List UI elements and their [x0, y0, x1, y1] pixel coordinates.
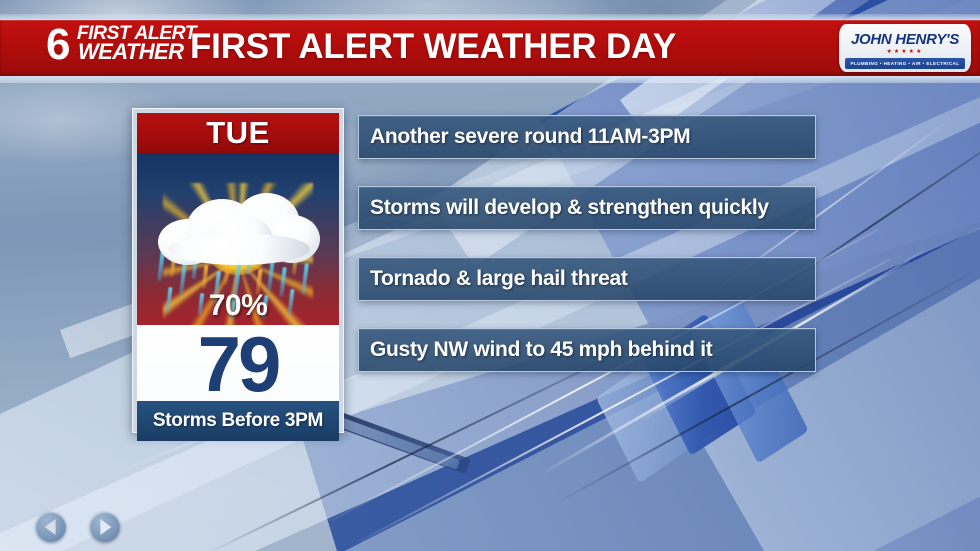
sponsor-stars-icon: ★★★★★: [839, 48, 971, 55]
condition-label: Storms Before 3PM: [137, 401, 339, 441]
cloud-icon: [152, 189, 324, 267]
bullet-item[interactable]: Storms will develop & strengthen quickly: [358, 186, 816, 230]
forecast-card[interactable]: TUE: [132, 108, 344, 433]
logo-line-first-alert: FIRST ALERT: [77, 24, 196, 43]
sponsor-logo[interactable]: JOHN HENRY'S ★★★★★ PLUMBING • HEATING • …: [839, 24, 971, 72]
bullet-item[interactable]: Gusty NW wind to 45 mph behind it: [358, 328, 816, 372]
bullet-text: Another severe round 11AM-3PM: [370, 116, 807, 158]
logo-line-weather: WEATHER: [78, 41, 195, 63]
station-number-logo: 6: [46, 23, 68, 67]
previous-slide-button[interactable]: [36, 512, 66, 542]
next-slide-button[interactable]: [90, 512, 120, 542]
weather-graphic-slide: 6 FIRST ALERT WEATHER FIRST ALERT WEATHE…: [0, 0, 980, 551]
page-title: FIRST ALERT WEATHER DAY: [190, 27, 676, 67]
sponsor-name: JOHN HENRY'S: [839, 31, 971, 48]
header-bottom-edge: [0, 76, 980, 83]
bullet-list: Another severe round 11AM-3PM Storms wil…: [358, 115, 816, 399]
bullet-text: Gusty NW wind to 45 mph behind it: [370, 329, 807, 371]
forecast-day-header: TUE: [137, 113, 339, 153]
bullet-item[interactable]: Another severe round 11AM-3PM: [358, 115, 816, 159]
forecast-card-inner: TUE: [137, 113, 339, 428]
slideshow-nav: [36, 512, 120, 542]
bullet-text: Storms will develop & strengthen quickly: [370, 187, 807, 229]
precip-chance: 70%: [137, 289, 339, 323]
weather-icon-panel: 70%: [137, 153, 339, 325]
bullet-text: Tornado & large hail threat: [370, 258, 807, 300]
high-temperature-value: 79: [137, 325, 339, 403]
sponsor-tagline: PLUMBING • HEATING • AIR • ELECTRICAL: [845, 58, 965, 69]
first-alert-weather-logo: FIRST ALERT WEATHER: [78, 24, 195, 63]
bullet-item[interactable]: Tornado & large hail threat: [358, 257, 816, 301]
header-bar: 6 FIRST ALERT WEATHER FIRST ALERT WEATHE…: [0, 20, 980, 76]
high-temperature-panel: 79: [137, 325, 339, 401]
